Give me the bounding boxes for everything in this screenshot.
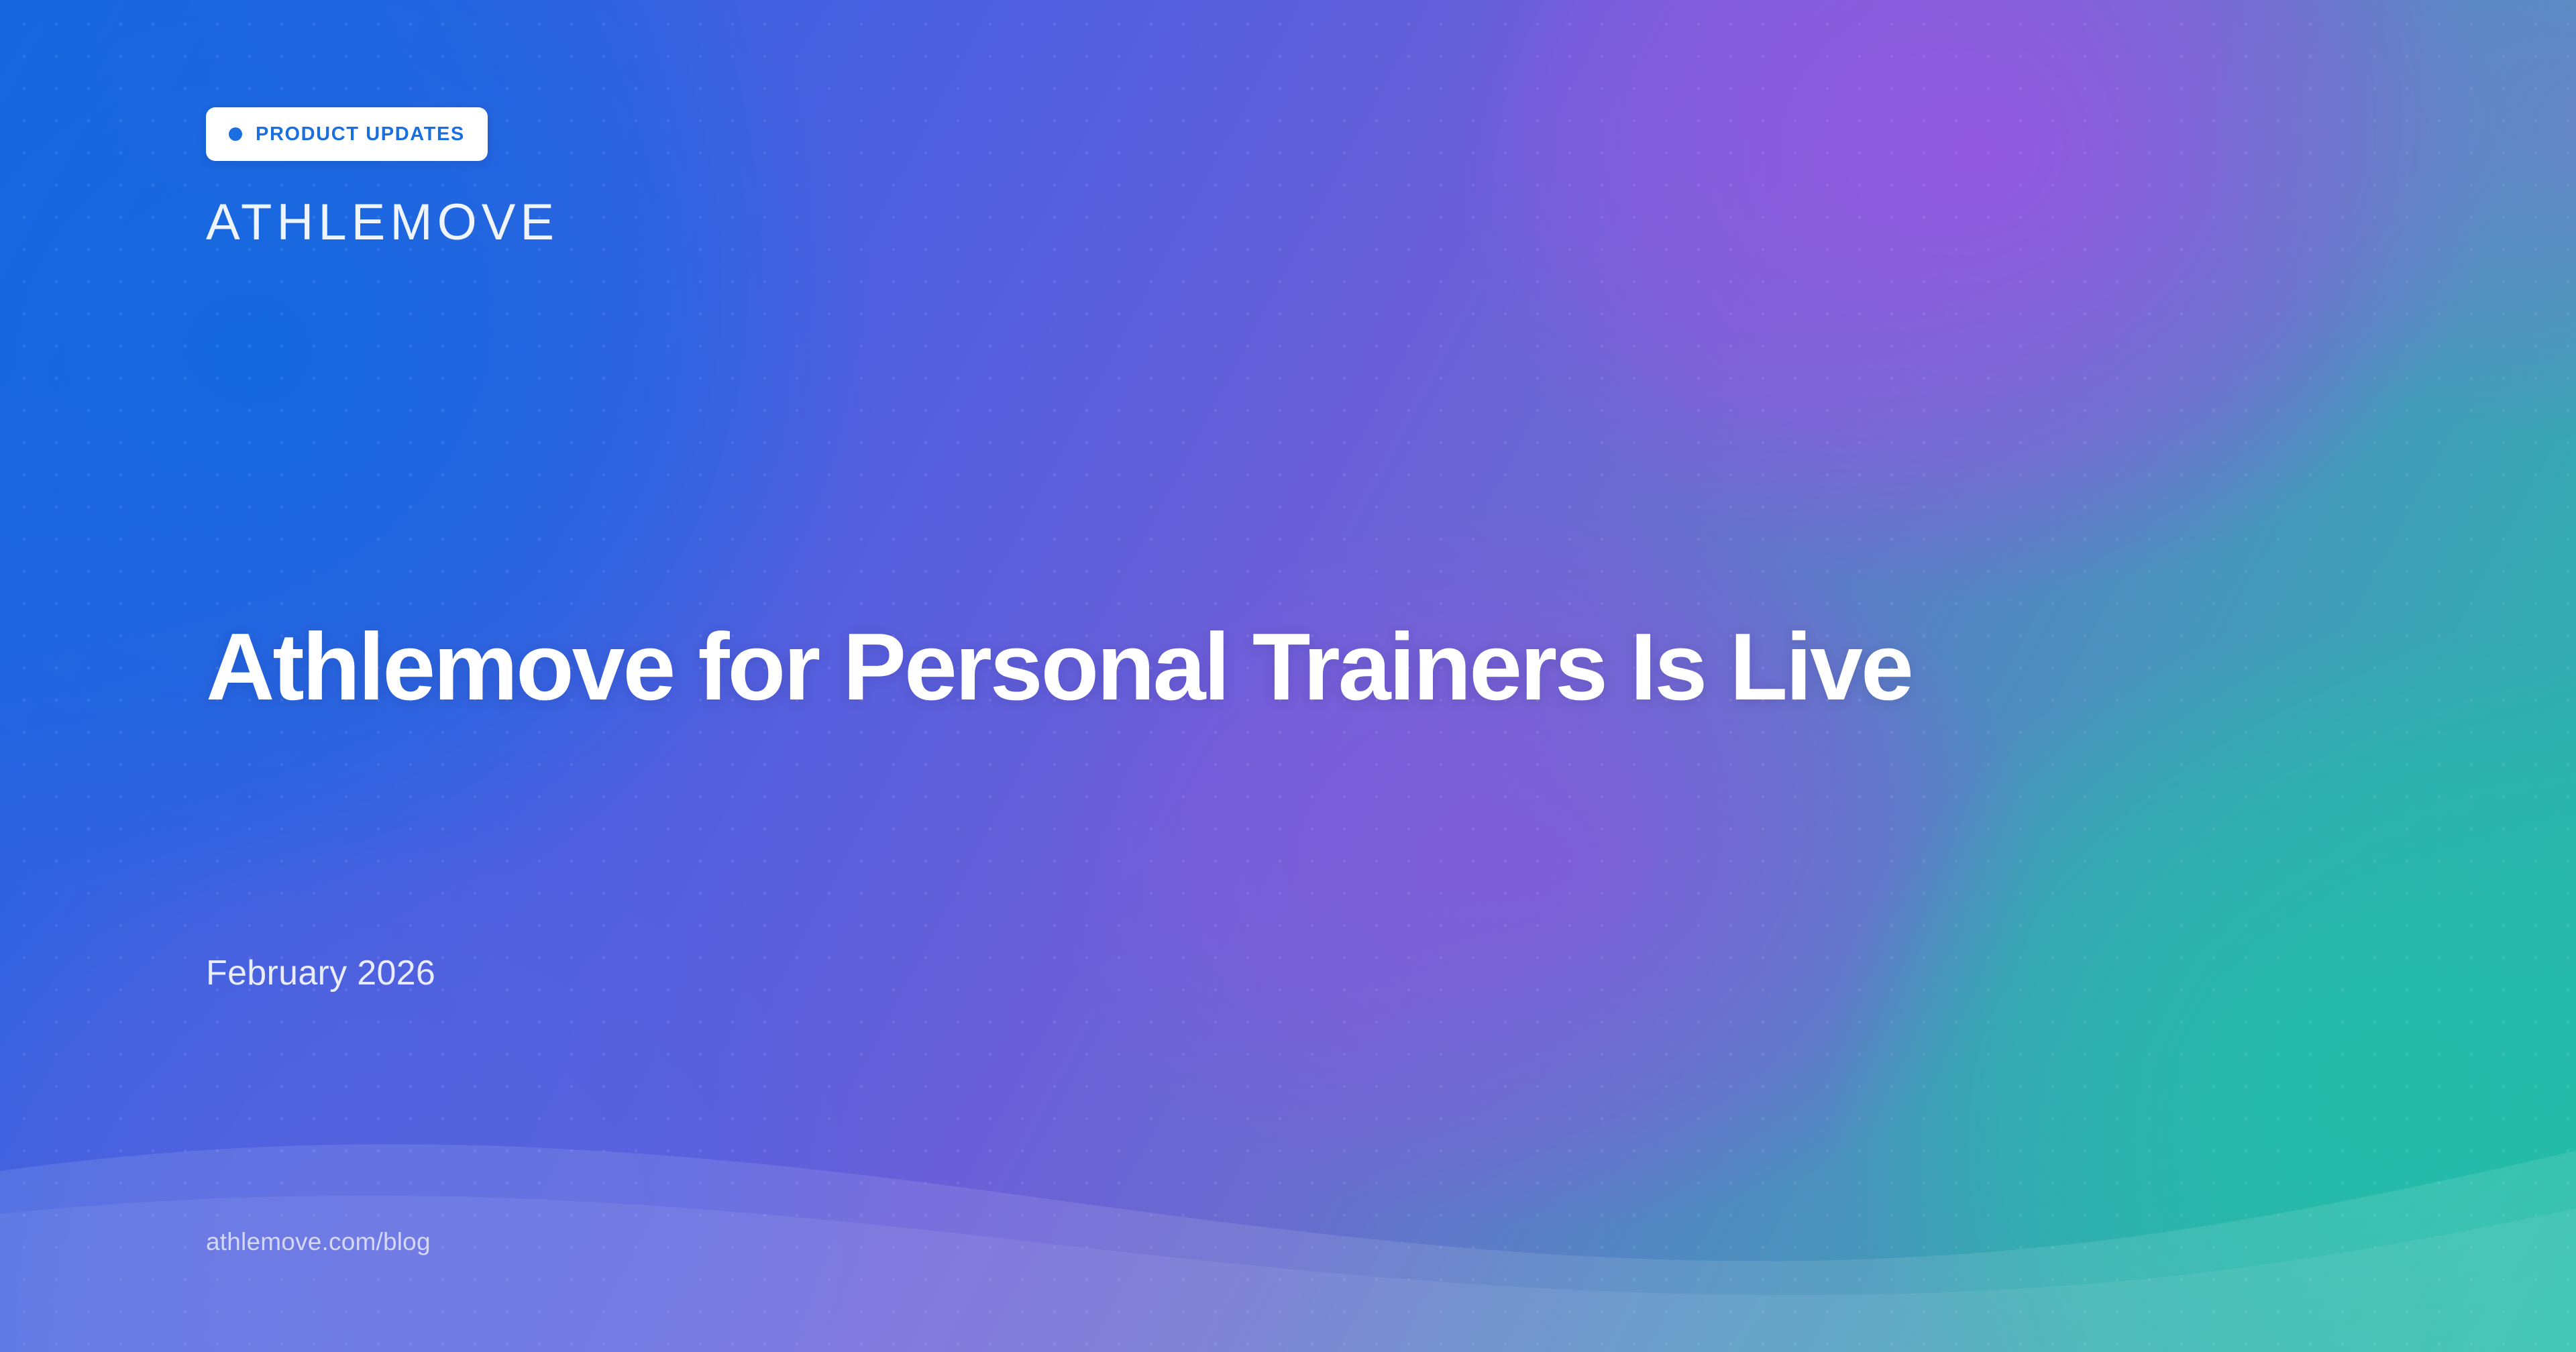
social-share-card: PRODUCT UPDATES ATHLEMOVE Athlemove for …	[0, 0, 2576, 1352]
brand-wordmark: ATHLEMOVE	[206, 193, 559, 251]
page-title: Athlemove for Personal Trainers Is Live	[206, 612, 1950, 723]
footer-url[interactable]: athlemove.com/blog	[206, 1227, 431, 1257]
product-updates-badge[interactable]: PRODUCT UPDATES	[206, 107, 488, 161]
status-dot-icon	[229, 127, 242, 141]
publish-date: February 2026	[206, 952, 435, 994]
card-content: PRODUCT UPDATES ATHLEMOVE Athlemove for …	[0, 0, 2576, 1352]
badge-label: PRODUCT UPDATES	[256, 125, 465, 144]
